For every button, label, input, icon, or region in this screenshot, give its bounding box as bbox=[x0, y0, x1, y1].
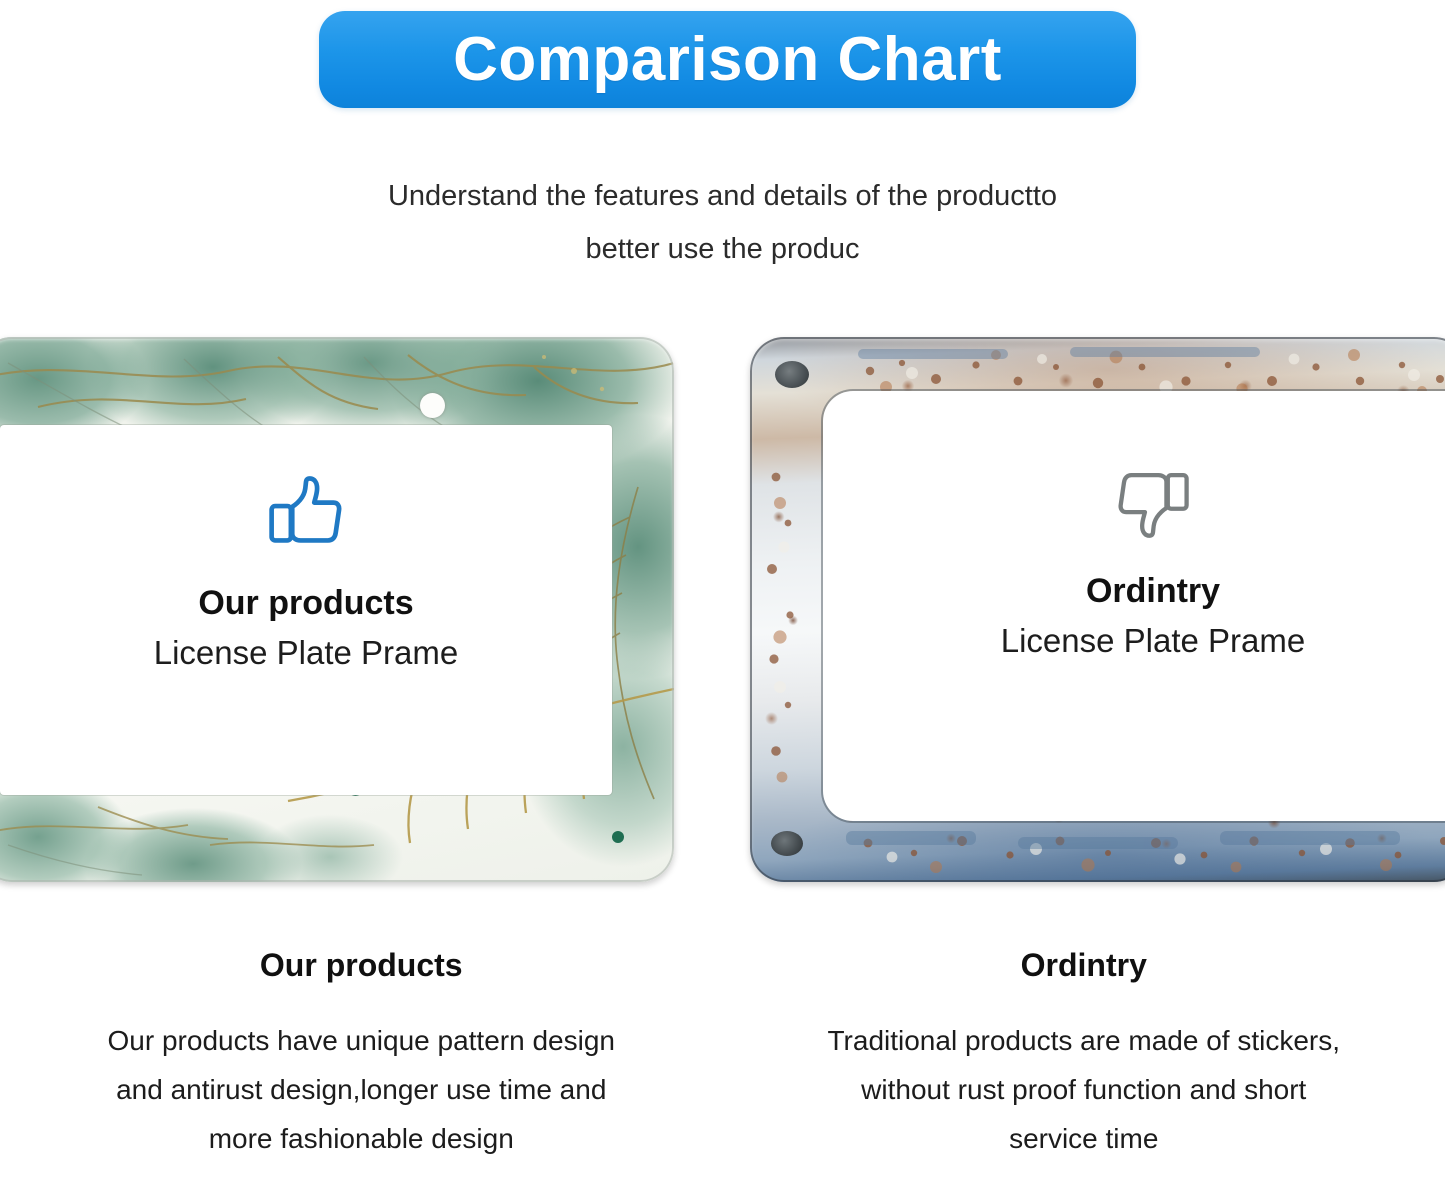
mounting-hole-corner bbox=[612, 831, 624, 843]
mounting-hole-bottom-left bbox=[771, 831, 803, 856]
our-product-license-plate-frame-image: Our products License Plate Prame bbox=[0, 337, 674, 882]
ordinary-product-caption-body: Traditional products are made of sticker… bbox=[723, 1016, 1445, 1163]
comparison-chart-title-banner: Comparison Chart bbox=[319, 11, 1136, 108]
ordinary-product-plate-title: Ordintry bbox=[1086, 573, 1220, 610]
our-product-plate-window: Our products License Plate Prame bbox=[0, 425, 612, 795]
our-product-caption-line-2: and antirust design,longer use time and bbox=[26, 1065, 697, 1114]
our-product-plate-title: Our products bbox=[198, 585, 413, 622]
our-product-caption: Our products Our products have unique pa… bbox=[0, 930, 723, 1178]
thumbs-up-icon bbox=[262, 471, 350, 559]
mounting-hole-top bbox=[420, 393, 445, 418]
thumbs-down-icon bbox=[1110, 457, 1196, 543]
our-product-caption-body: Our products have unique pattern design … bbox=[0, 1016, 723, 1163]
ordinary-product-caption-line-1: Traditional products are made of sticker… bbox=[749, 1016, 1420, 1065]
our-product-plate-subtitle: License Plate Prame bbox=[154, 634, 459, 672]
ordinary-product-caption: Ordintry Traditional products are made o… bbox=[723, 930, 1445, 1178]
ordinary-product-license-plate-frame-image: Ordintry License Plate Prame bbox=[750, 337, 1445, 882]
ordinary-product-caption-title: Ordintry bbox=[723, 946, 1445, 984]
comparison-captions-row: Our products Our products have unique pa… bbox=[0, 930, 1445, 1178]
our-product-caption-line-3: more fashionable design bbox=[26, 1114, 697, 1163]
mounting-hole-top-left bbox=[775, 361, 809, 388]
ordinary-product-plate-window: Ordintry License Plate Prame bbox=[823, 391, 1445, 821]
product-comparison-row: Our products License Plate Prame bbox=[0, 330, 1445, 890]
ordinary-product-caption-line-3: service time bbox=[749, 1114, 1420, 1163]
ordinary-product-caption-line-2: without rust proof function and short bbox=[749, 1065, 1420, 1114]
page-title: Comparison Chart bbox=[453, 29, 1002, 91]
ordinary-product-plate-subtitle: License Plate Prame bbox=[1001, 622, 1306, 660]
our-product-caption-title: Our products bbox=[0, 946, 723, 984]
subtitle: Understand the features and details of t… bbox=[0, 170, 1445, 276]
subtitle-line-2: better use the produc bbox=[0, 223, 1445, 276]
subtitle-line-1: Understand the features and details of t… bbox=[0, 170, 1445, 223]
our-product-caption-line-1: Our products have unique pattern design bbox=[26, 1016, 697, 1065]
